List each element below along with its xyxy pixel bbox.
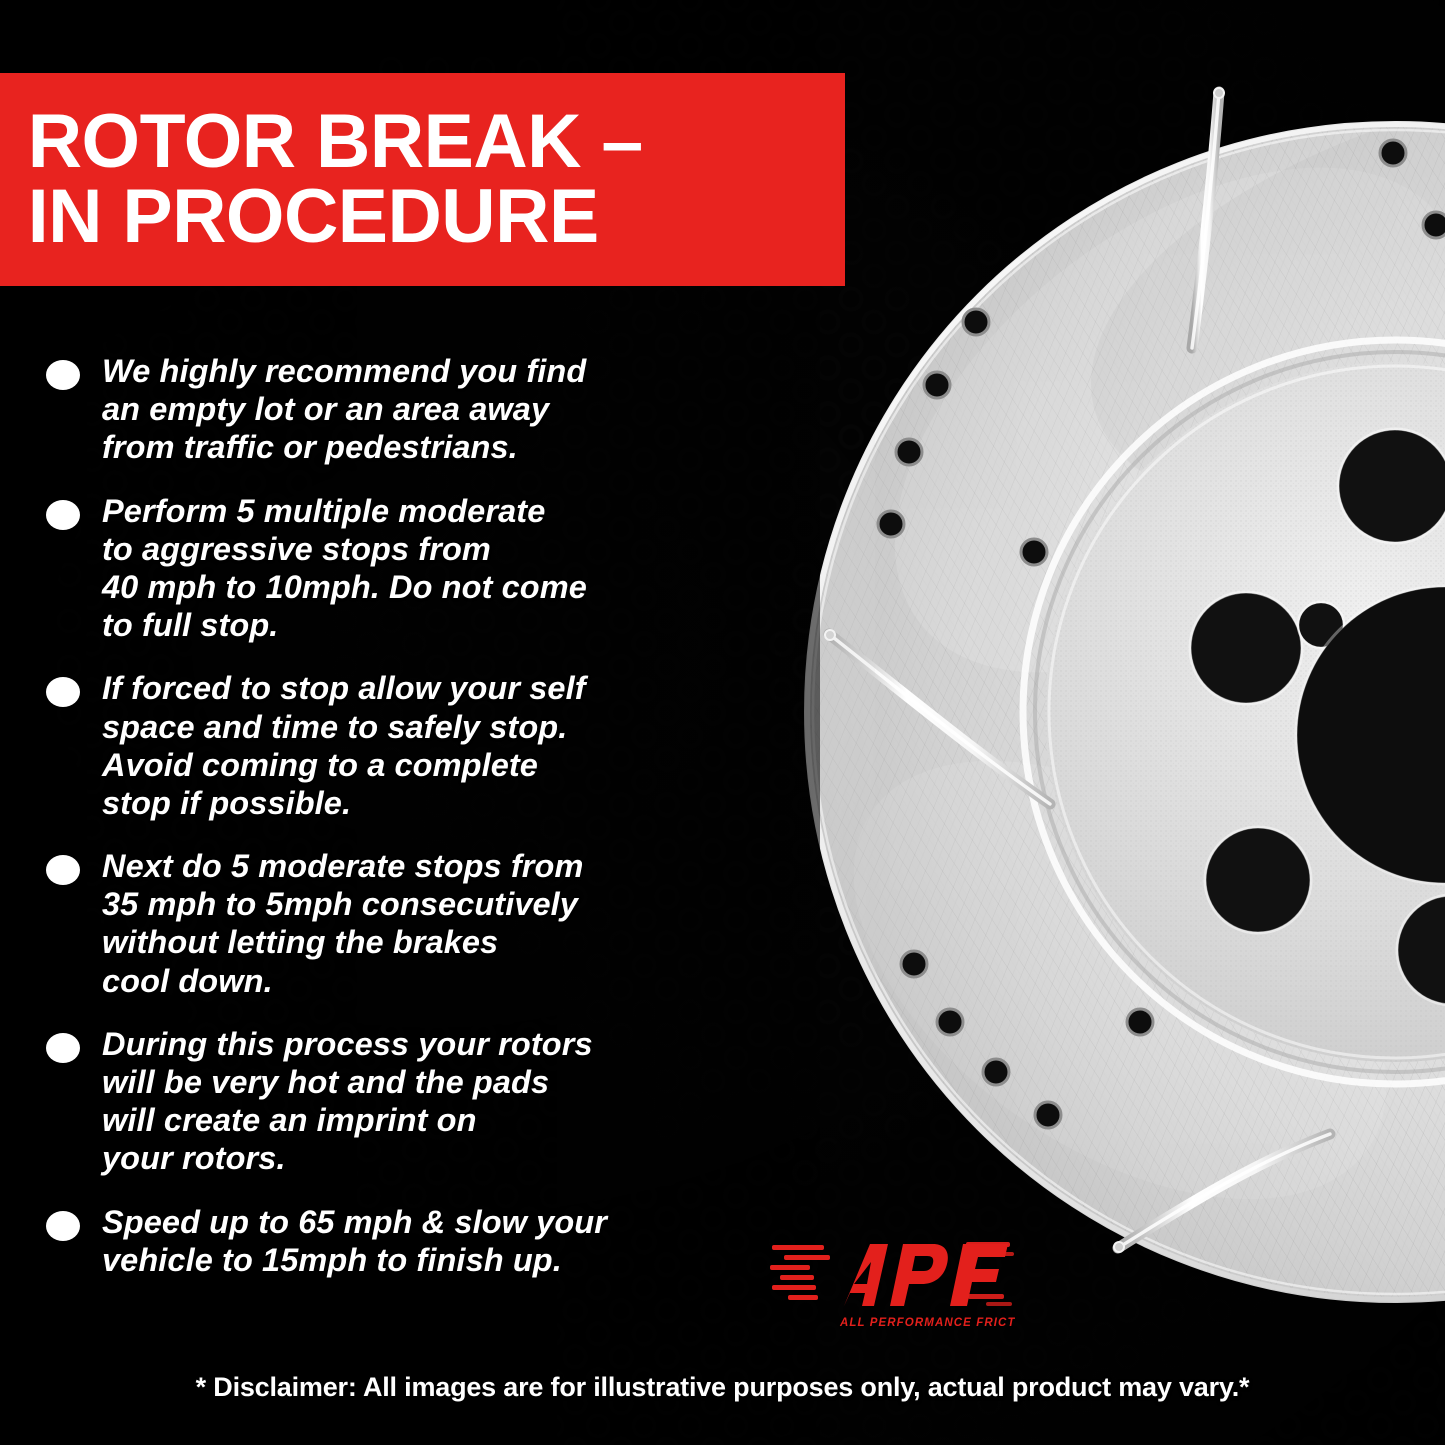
list-item-text: Speed up to 65 mph & slow your vehicle t… [102, 1203, 607, 1279]
list-item-text: Perform 5 multiple moderate to aggressiv… [102, 492, 587, 645]
list-item: If forced to stop allow your self space … [46, 669, 766, 822]
bullet-dot-icon [46, 500, 80, 530]
bullet-dot-icon [46, 677, 80, 707]
bullet-dot-icon [46, 360, 80, 390]
bullet-dot-icon [46, 1211, 80, 1241]
list-item: Speed up to 65 mph & slow your vehicle t… [46, 1203, 766, 1279]
list-item: We highly recommend you find an empty lo… [46, 352, 766, 467]
bullet-dot-icon [46, 855, 80, 885]
list-item: Perform 5 multiple moderate to aggressiv… [46, 492, 766, 645]
apf-tagline: ALL PERFORMANCE FRICTION [839, 1317, 1015, 1329]
list-item-text: During this process your rotors will be … [102, 1025, 593, 1178]
title-banner: ROTOR BREAK – IN PROCEDURE [0, 73, 845, 286]
list-item-text: We highly recommend you find an empty lo… [102, 352, 586, 467]
apf-logo: ALL PERFORMANCE FRICTION [770, 1232, 1015, 1332]
list-item: During this process your rotors will be … [46, 1025, 766, 1178]
list-item-text: If forced to stop allow your self space … [102, 669, 586, 822]
list-item: Next do 5 moderate stops from 35 mph to … [46, 847, 766, 1000]
instruction-list: We highly recommend you find an empty lo… [46, 352, 766, 1304]
list-item-text: Next do 5 moderate stops from 35 mph to … [102, 847, 583, 1000]
poster-canvas: ROTOR BREAK – IN PROCEDURE We highly rec… [0, 0, 1445, 1445]
page-title: ROTOR BREAK – IN PROCEDURE [0, 105, 653, 254]
bullet-dot-icon [46, 1033, 80, 1063]
disclaimer-text: * Disclaimer: All images are for illustr… [0, 1372, 1445, 1403]
